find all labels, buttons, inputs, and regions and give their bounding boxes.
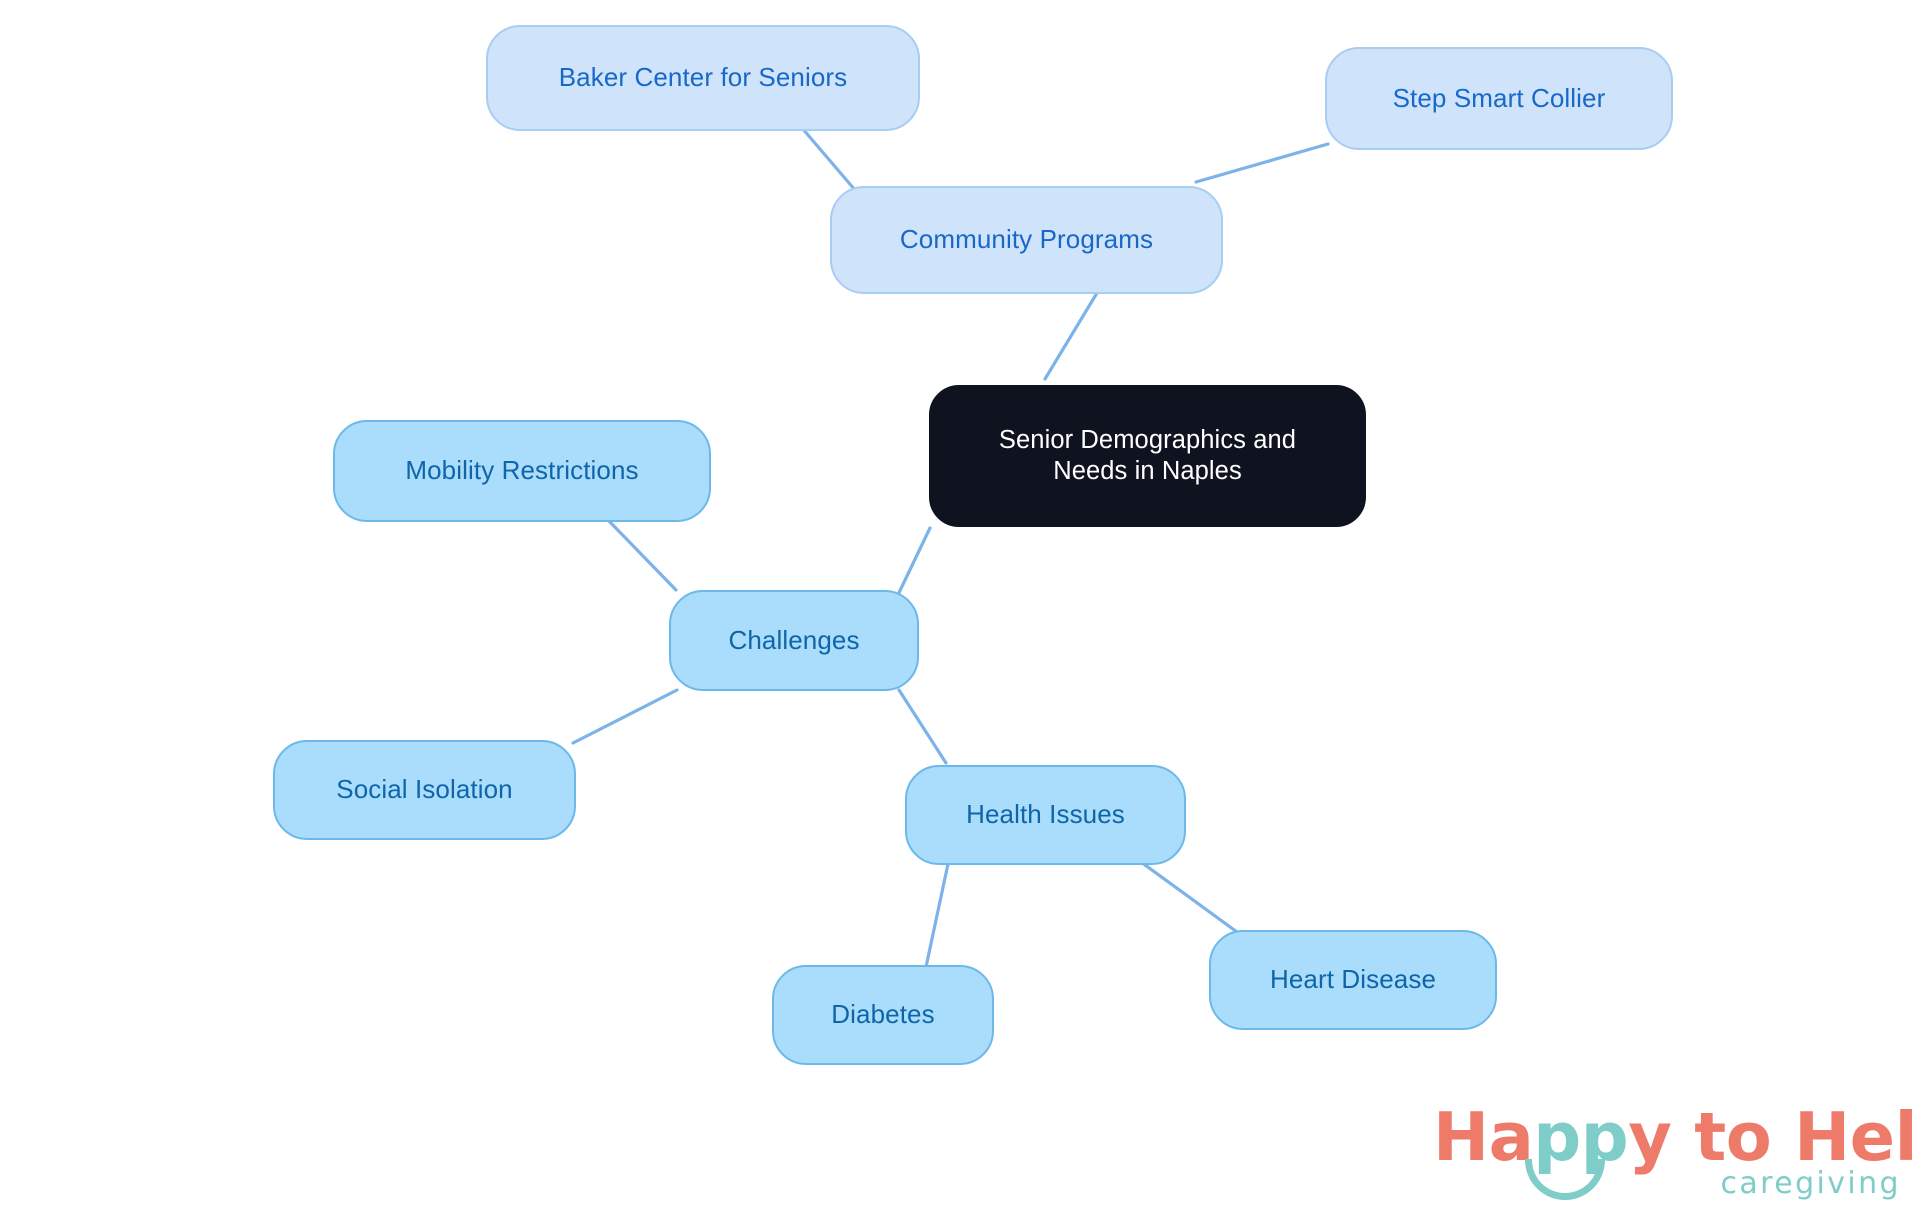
smile-icon [1525,1159,1605,1200]
mindmap-edge-community-programs-to-step-smart-collier [1196,144,1328,182]
mindmap-node-diabetes[interactable]: Diabetes [772,965,994,1065]
mindmap-edge-root-to-community-programs [1045,283,1103,379]
mindmap-edge-root-to-challenges [895,528,930,601]
mindmap-edge-health-issues-to-diabetes [926,864,948,967]
mindmap-node-baker-center-for-seniors[interactable]: Baker Center for Seniors [486,25,920,131]
mindmap-node-heart-disease[interactable]: Heart Disease [1209,930,1497,1030]
logo-text-part-3: y to Help [1628,1098,1920,1176]
mindmap-edge-health-issues-to-heart-disease [1141,862,1237,932]
mindmap-edge-challenges-to-mobility-restrictions [608,520,676,590]
mindmap-edge-challenges-to-social-isolation [573,690,677,743]
mindmap-canvas: Senior Demographics and Needs in NaplesC… [0,0,1920,1215]
brand-logo: Happy to Help caregiving [1433,1104,1903,1208]
logo-tagline: caregiving [1720,1166,1901,1201]
mindmap-node-health-issues[interactable]: Health Issues [905,765,1186,865]
mindmap-node-step-smart-collier[interactable]: Step Smart Collier [1325,47,1673,150]
logo-wordmark: Happy to Help [1433,1098,1920,1176]
mindmap-node-community-programs[interactable]: Community Programs [830,186,1223,294]
mindmap-node-social-isolation[interactable]: Social Isolation [273,740,576,840]
mindmap-node-challenges[interactable]: Challenges [669,590,919,691]
mindmap-edge-community-programs-to-baker-center-for-seniors [802,128,855,190]
logo-text-part-1: Ha [1433,1098,1533,1176]
mindmap-node-mobility-restrictions[interactable]: Mobility Restrictions [333,420,711,522]
mindmap-edge-challenges-to-health-issues [899,690,946,763]
mindmap-node-root[interactable]: Senior Demographics and Needs in Naples [929,385,1366,527]
